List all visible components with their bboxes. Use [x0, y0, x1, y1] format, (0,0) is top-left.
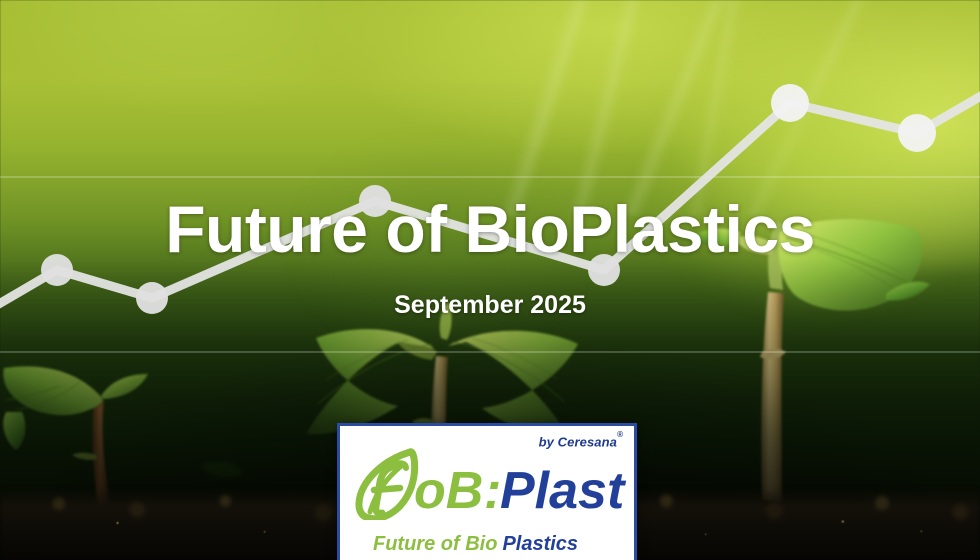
wordmark-colon: : [484, 462, 501, 520]
registered-trademark-icon: ® [617, 430, 623, 439]
fob-plast-wordmark: oB : Plast [352, 448, 630, 520]
logo-tagline: Future of BioPlastics [373, 533, 578, 556]
fob-plast-logo[interactable]: by Ceresana® oB : Plast [337, 423, 637, 560]
wordmark-plast: Plast [500, 462, 627, 520]
presentation-title-slide: Future of BioPlastics September 2025 by … [0, 0, 980, 560]
tagline-navy-part: Plastics [502, 533, 578, 555]
tagline-green-part: Future of Bio [373, 533, 497, 555]
page-subtitle: September 2025 [0, 293, 980, 318]
wordmark-ob: oB [414, 462, 483, 520]
leaf-icon [359, 452, 415, 519]
page-title: Future of BioPlastics [0, 196, 980, 262]
